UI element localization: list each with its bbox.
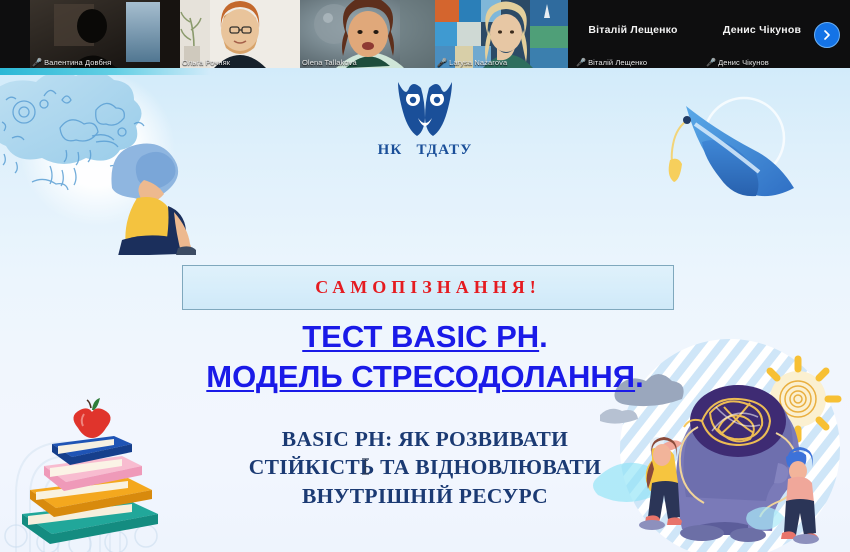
strip-left-padding [0,0,30,68]
logo-abbrev: НК [378,142,403,159]
institution-logo: НК ТДАТУ [0,78,850,159]
slide-title-group: ТЕСТ BASIC PH. МОДЕЛЬ СТРЕСОДОЛАННЯ. [0,317,850,398]
slide-title-line-1-period: . [539,319,548,354]
participant-name-text-2: Ольга Рочняк [182,58,230,67]
participant-name-text-4: Larysa Nazarova [449,58,507,67]
next-participants-page-button[interactable] [814,22,840,48]
participant-display-name-6: Денис Чікунов [723,24,801,36]
participant-name-label-3: Olena Tallakova [302,58,357,67]
nk-tdatu-owl-logo-icon [394,78,456,138]
participant-name-text-5: Віталій Лещенко [588,58,647,67]
microphone-muted-icon-1: 🎤 [32,59,42,67]
slide-subtitle-line-3: ВНУТРІШНІЙ РЕСУРС [0,482,850,510]
video-tile-participant-5[interactable]: Віталій Лещенко 🎤 Віталій Лещенко [568,0,698,68]
screen-root: 🎤 Валентина Довбня Оль [0,0,850,552]
slide-subtitle-line-2: СТІЙКІСТЬ ТА ВІДНОВЛЮВАТИ [0,453,850,481]
microphone-muted-icon-6: 🎤 [706,59,716,67]
participant-name-label-1: 🎤 Валентина Довбня [32,58,111,67]
slide-title-line-1: ТЕСТ BASIC PH. [0,317,850,357]
participant-display-name-5: Віталій Лещенко [588,24,677,36]
slide-banner-box: САМОПІЗНАННЯ! [182,265,674,310]
microphone-muted-icon-4: 🎤 [437,59,447,67]
slide-title-line-2: МОДЕЛЬ СТРЕСОДОЛАННЯ. [0,357,850,397]
video-participant-strip: 🎤 Валентина Довбня Оль [0,0,850,68]
video-tile-participant-6[interactable]: Денис Чікунов 🎤 Денис Чікунов [698,0,826,68]
participant-name-label-4: 🎤 Larysa Nazarova [437,58,507,67]
video-tile-participant-2[interactable]: Ольга Рочняк [180,0,300,68]
video-tile-participant-1[interactable]: 🎤 Валентина Довбня [30,0,180,68]
text-cursor [361,458,370,475]
participant-name-label-2: Ольга Рочняк [182,58,230,67]
participant-name-text-3: Olena Tallakova [302,58,357,67]
slide-subtitle-group: BASIC PH: ЯК РОЗВИВАТИ СТІЙКІСТЬ ТА ВІДН… [0,425,850,510]
institution-logo-text: НК ТДАТУ [378,142,473,159]
slide-top-accent-strip [0,68,210,75]
participant-name-text-1: Валентина Довбня [44,58,111,67]
slide-subtitle-line-1: BASIC PH: ЯК РОЗВИВАТИ [0,425,850,453]
video-tile-participant-3[interactable]: Olena Tallakova [300,0,435,68]
slide-title-line-2-period: . [635,359,644,394]
video-tile-participant-4[interactable]: 🎤 Larysa Nazarova [435,0,568,68]
chevron-right-icon [821,29,833,41]
microphone-muted-icon-5: 🎤 [576,59,586,67]
participant-name-text-6: Денис Чікунов [718,58,769,67]
slide-title-line-2-text: МОДЕЛЬ СТРЕСОДОЛАННЯ [206,359,635,394]
shared-presentation-slide[interactable]: НК ТДАТУ САМОПІЗНАННЯ! ТЕСТ BASIC PH. МО… [0,68,850,552]
participant-name-label-5: 🎤 Віталій Лещенко [576,58,647,67]
slide-title-line-1-text: ТЕСТ BASIC PH [302,319,539,354]
participant-name-label-6: 🎤 Денис Чікунов [706,58,769,67]
slide-banner-text: САМОПІЗНАННЯ! [315,277,541,298]
logo-institution: ТДАТУ [417,142,473,159]
